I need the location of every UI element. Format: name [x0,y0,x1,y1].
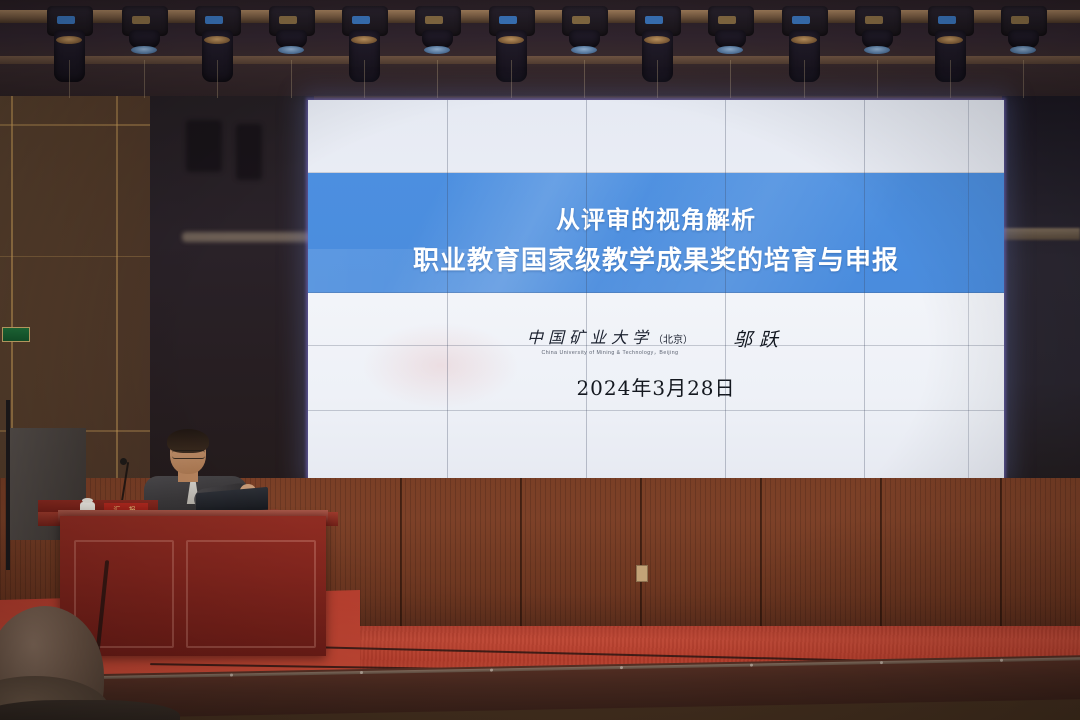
wall-ledge-left [182,232,312,242]
slide-title-line-2: 职业教育国家级教学成果奖的培育与申报 [308,240,1004,277]
wainscot-seam [1000,478,1002,643]
wainscot-seam [640,478,642,643]
stage-light-badge [938,16,956,24]
stage-light-badge [718,16,736,24]
stage-light-badge [645,16,663,24]
stage-light-safety-wire [804,60,805,98]
stage-light-safety-wire [217,60,218,98]
stage-light-badge [425,16,443,24]
lighting-truss-secondary [0,56,1080,64]
stage-light-safety-wire [950,60,951,98]
university-name-cn: 中国矿业大学（北京） [527,330,693,346]
exit-sign [2,327,30,342]
wall-speaker-left-2 [236,124,262,180]
wall-speaker-left [186,120,222,172]
stage-light-badge [792,16,810,24]
university-campus-suffix: （北京） [653,335,693,346]
right-wall-ledge [1002,228,1080,240]
microphone-stand [6,400,10,570]
slide-credits-row: 中国矿业大学（北京） China University of Mining & … [308,325,1004,356]
university-logo: 中国矿业大学（北京） China University of Mining & … [527,330,693,356]
stage-light-safety-wire [584,60,585,98]
stage-light-badge [57,16,75,24]
stage-light-lens [717,46,743,54]
stage-light-lens [351,36,377,44]
stage-light-badge [205,16,223,24]
stage-light-safety-wire [1023,60,1024,98]
microphone-capsule [120,458,127,465]
stage-light-safety-wire [511,60,512,98]
slide-date: 2024年3月28日 [308,372,1004,401]
stage-light-lens [204,36,230,44]
slide-title-line-1: 从评审的视角解析 [308,200,1004,235]
stage-light-safety-wire [877,60,878,98]
stage-light-badge [865,16,883,24]
university-name-cn-text: 中国矿业大学 [527,328,653,347]
right-wall [1002,78,1080,482]
stage-light-safety-wire [657,60,658,98]
glasses-icon [172,450,205,459]
stage-light-lens [131,46,157,54]
stage-light-badge [279,16,297,24]
stage-light-safety-wire [437,60,438,98]
left-wall-dark-recess [150,78,314,482]
stage-light-lens [937,36,963,44]
stage-light-safety-wire [144,60,145,98]
stage-light-safety-wire [69,60,70,98]
stage-light-safety-wire [364,60,365,98]
wainscot-seam [400,478,402,643]
stage-light-lens [498,36,524,44]
auditorium-photo: 从评审的视角解析 职业教育国家级教学成果奖的培育与申报 中国矿业大学（北京） C… [0,0,1080,720]
led-video-wall: 从评审的视角解析 职业教育国家级教学成果奖的培育与申报 中国矿业大学（北京） C… [308,100,1004,478]
stage-light-lens [864,46,890,54]
wainscot-seam [760,478,762,643]
presenter-name: 邬跃 [733,325,785,356]
stage-light-badge [499,16,517,24]
stage-light-badge [132,16,150,24]
stage-light-lens [644,36,670,44]
stage-light-lens [278,46,304,54]
university-name-en: China University of Mining & Technology，… [527,349,693,356]
stage-light-badge [352,16,370,24]
stage-light-lens [571,46,597,54]
stage-light-safety-wire [730,60,731,98]
stage-light-badge [1011,16,1029,24]
wall-outlet [636,565,648,582]
slide-top-band [308,100,1004,173]
stage-light-lens [1010,46,1036,54]
podium-panel-right [186,540,316,648]
presentation-slide: 从评审的视角解析 职业教育国家级教学成果奖的培育与申报 中国矿业大学（北京） C… [308,100,1004,478]
stage-light-lens [424,46,450,54]
wainscot-seam [880,478,882,643]
stage-light-badge [572,16,590,24]
wainscot-seam [520,478,522,643]
stage-light-lens [56,36,82,44]
stage-light-safety-wire [291,60,292,98]
stage-light-lens [791,36,817,44]
